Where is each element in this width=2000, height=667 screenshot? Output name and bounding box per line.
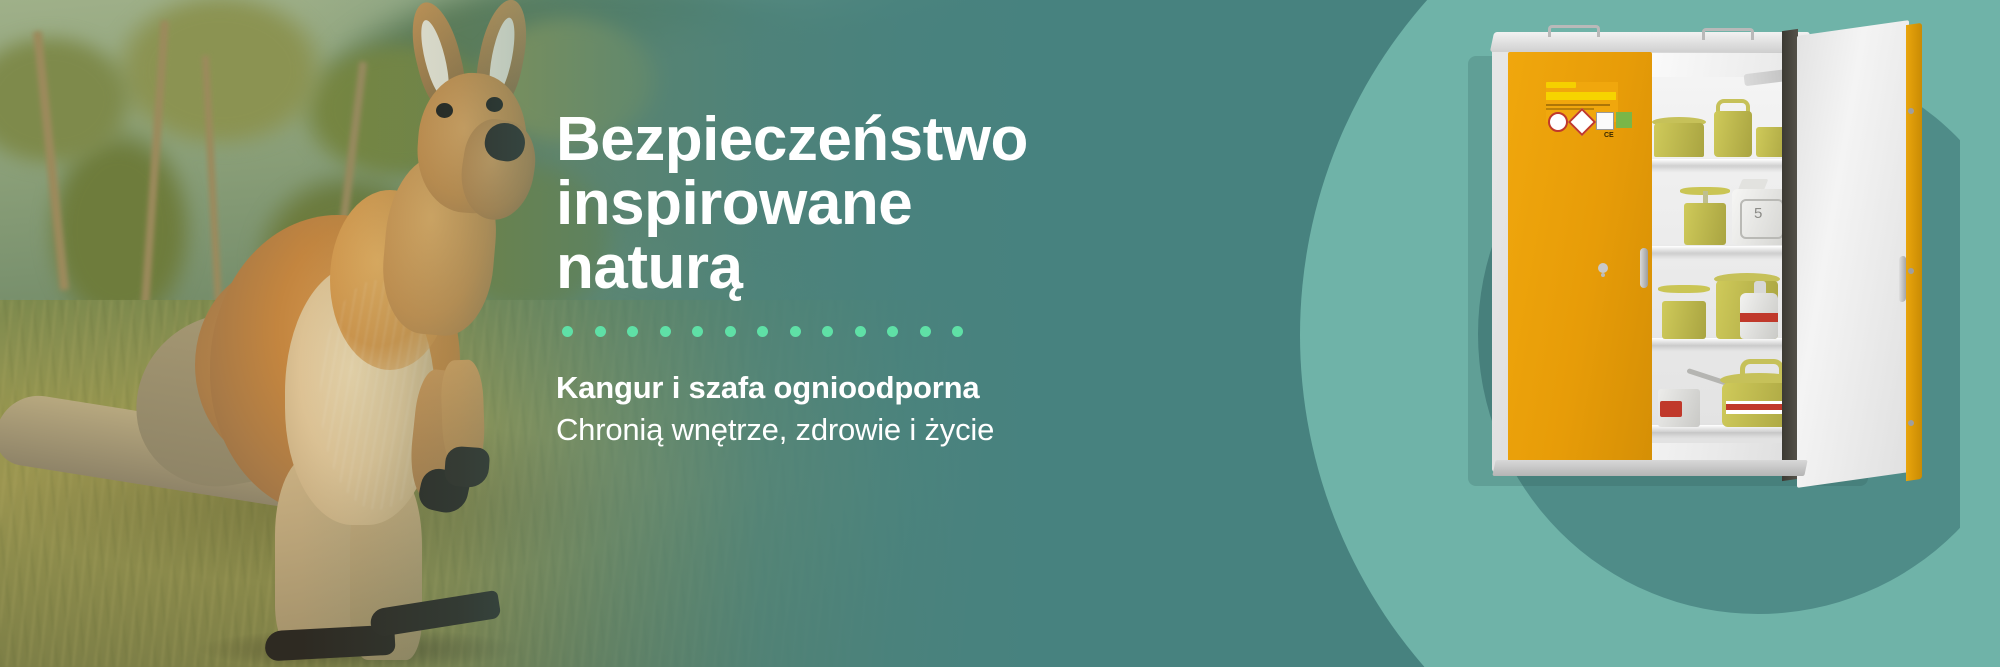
open-door-seal-edge xyxy=(1782,29,1798,481)
subtitle-bold: Kangur i szafa ognioodporna xyxy=(556,369,1176,406)
divider-dot xyxy=(855,326,866,337)
door-lock-icon xyxy=(1598,263,1608,273)
cabinet-interior: 5 xyxy=(1644,53,1804,465)
canister xyxy=(1662,301,1706,339)
label-text-line xyxy=(1546,104,1610,106)
cabinet-base xyxy=(1492,460,1807,476)
headline-line-2: inspirowane xyxy=(556,172,1176,236)
divider-dot xyxy=(660,326,671,337)
funnel xyxy=(1658,285,1710,293)
divider-dot xyxy=(920,326,931,337)
cabinet-top-panel xyxy=(1490,32,1810,52)
divider-dot xyxy=(725,326,736,337)
divider-dot xyxy=(790,326,801,337)
cabinet-shelf xyxy=(1648,338,1798,345)
divider-dot xyxy=(757,326,768,337)
warning-label-red xyxy=(1740,313,1778,322)
divider-dot xyxy=(595,326,606,337)
open-door-panel xyxy=(1797,20,1909,488)
divider-dot xyxy=(562,326,573,337)
green-pictogram-icon xyxy=(1616,112,1632,128)
jerrycan-number: 5 xyxy=(1754,205,1762,222)
canister xyxy=(1684,203,1726,245)
open-door-yellow-edge xyxy=(1906,23,1922,481)
cabinet-shelf xyxy=(1648,246,1798,253)
right-edge-fill xyxy=(1960,0,2000,667)
door-handle xyxy=(1640,248,1648,288)
page-title: Bezpieczeństwo inspirowane naturą xyxy=(556,108,1176,300)
divider-dot xyxy=(887,326,898,337)
dotted-divider-icon xyxy=(562,326,1176,337)
open-door-handle xyxy=(1899,256,1906,303)
divider-dot xyxy=(627,326,638,337)
door-hinge xyxy=(1908,108,1914,114)
headline-line-3: naturą xyxy=(556,236,1176,300)
label-yellow-bar xyxy=(1546,92,1616,100)
headline-line-1: Bezpieczeństwo xyxy=(556,108,1176,172)
door-hinge xyxy=(1908,420,1914,426)
door-hinge xyxy=(1908,268,1914,274)
divider-dot xyxy=(692,326,703,337)
flammable-pictogram-icon xyxy=(1660,401,1682,417)
label-brand-bar xyxy=(1546,82,1576,88)
label-text-line xyxy=(1546,108,1594,110)
certificate-pictogram-icon xyxy=(1596,112,1614,130)
divider-dot xyxy=(952,326,963,337)
divider-dot xyxy=(822,326,833,337)
hero-banner: Bezpieczeństwo inspirowane naturą Kangur… xyxy=(0,0,2000,667)
canister xyxy=(1714,111,1752,157)
fire-resistant-safety-cabinet: 5 xyxy=(1492,20,1932,500)
canister xyxy=(1654,123,1704,157)
ce-mark-icon: CE xyxy=(1604,132,1614,139)
subtitle-regular: Chronią wnętrze, zdrowie i życie xyxy=(556,411,1176,448)
cabinet-lifting-handle xyxy=(1702,28,1754,40)
banner-copy: Bezpieczeństwo inspirowane naturą Kangur… xyxy=(556,108,1176,448)
cabinet-shelf xyxy=(1648,159,1798,166)
cabinet-lifting-handle xyxy=(1548,25,1600,37)
no-fire-pictogram-icon xyxy=(1548,112,1568,132)
